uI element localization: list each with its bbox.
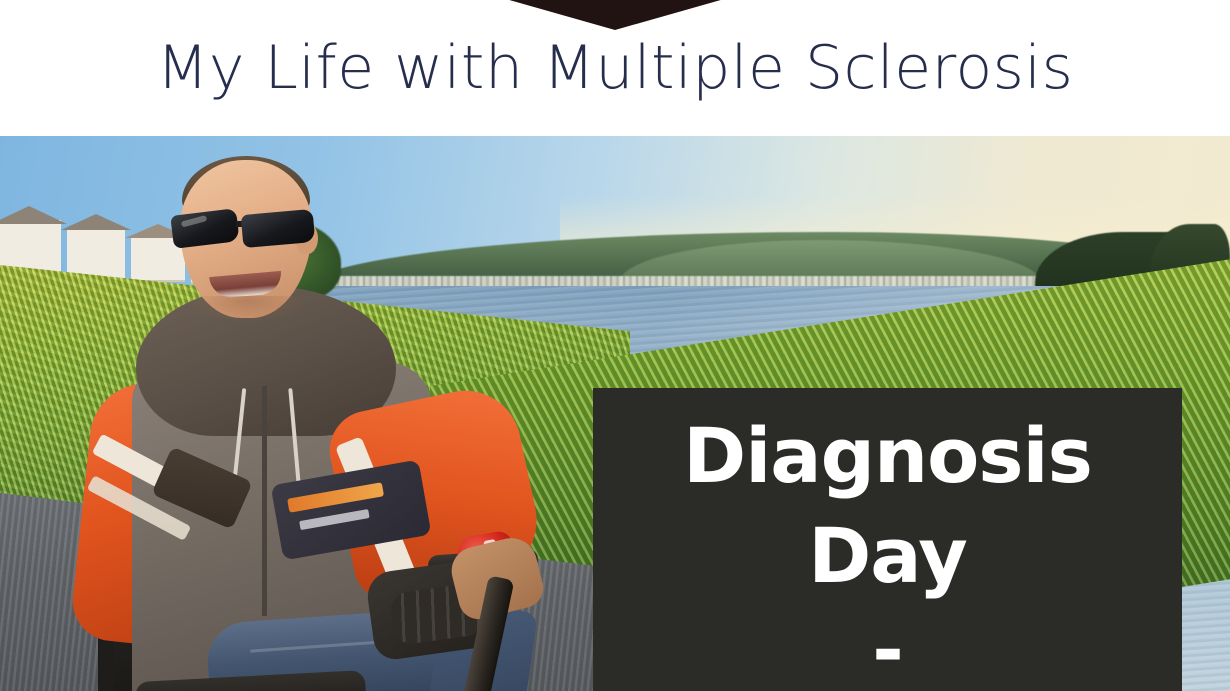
chevron-emblem-logo-icon: [305, 0, 925, 30]
text-overlay-panel: Diagnosis Day - Not the best: [593, 388, 1182, 691]
chest-logo-text: [299, 509, 369, 530]
chest-logo-mark: [287, 482, 384, 512]
site-header-band: My Life with Multiple Sclerosis: [0, 0, 1230, 136]
lens-glint: [181, 215, 208, 228]
hero-photo: Diagnosis Day - Not the best: [0, 136, 1230, 691]
sunglasses-lens-left: [170, 208, 240, 249]
sunglasses-icon: [170, 212, 322, 248]
overlay-line-3: -: [593, 612, 1182, 688]
chin-shadow: [190, 296, 305, 322]
overlay-text-block: Diagnosis Day - Not the best: [593, 418, 1182, 691]
thumbnail-canvas: My Life with Multiple Sclerosis: [0, 0, 1230, 691]
overlay-line-2: Day: [593, 518, 1182, 594]
page-title: My Life with Multiple Sclerosis: [0, 38, 1230, 98]
man-on-mobility-scooter: [40, 136, 600, 691]
hoodie-zipper: [262, 386, 267, 616]
sunglasses-lens-right: [241, 209, 316, 248]
overlay-line-1: Diagnosis: [593, 418, 1182, 494]
